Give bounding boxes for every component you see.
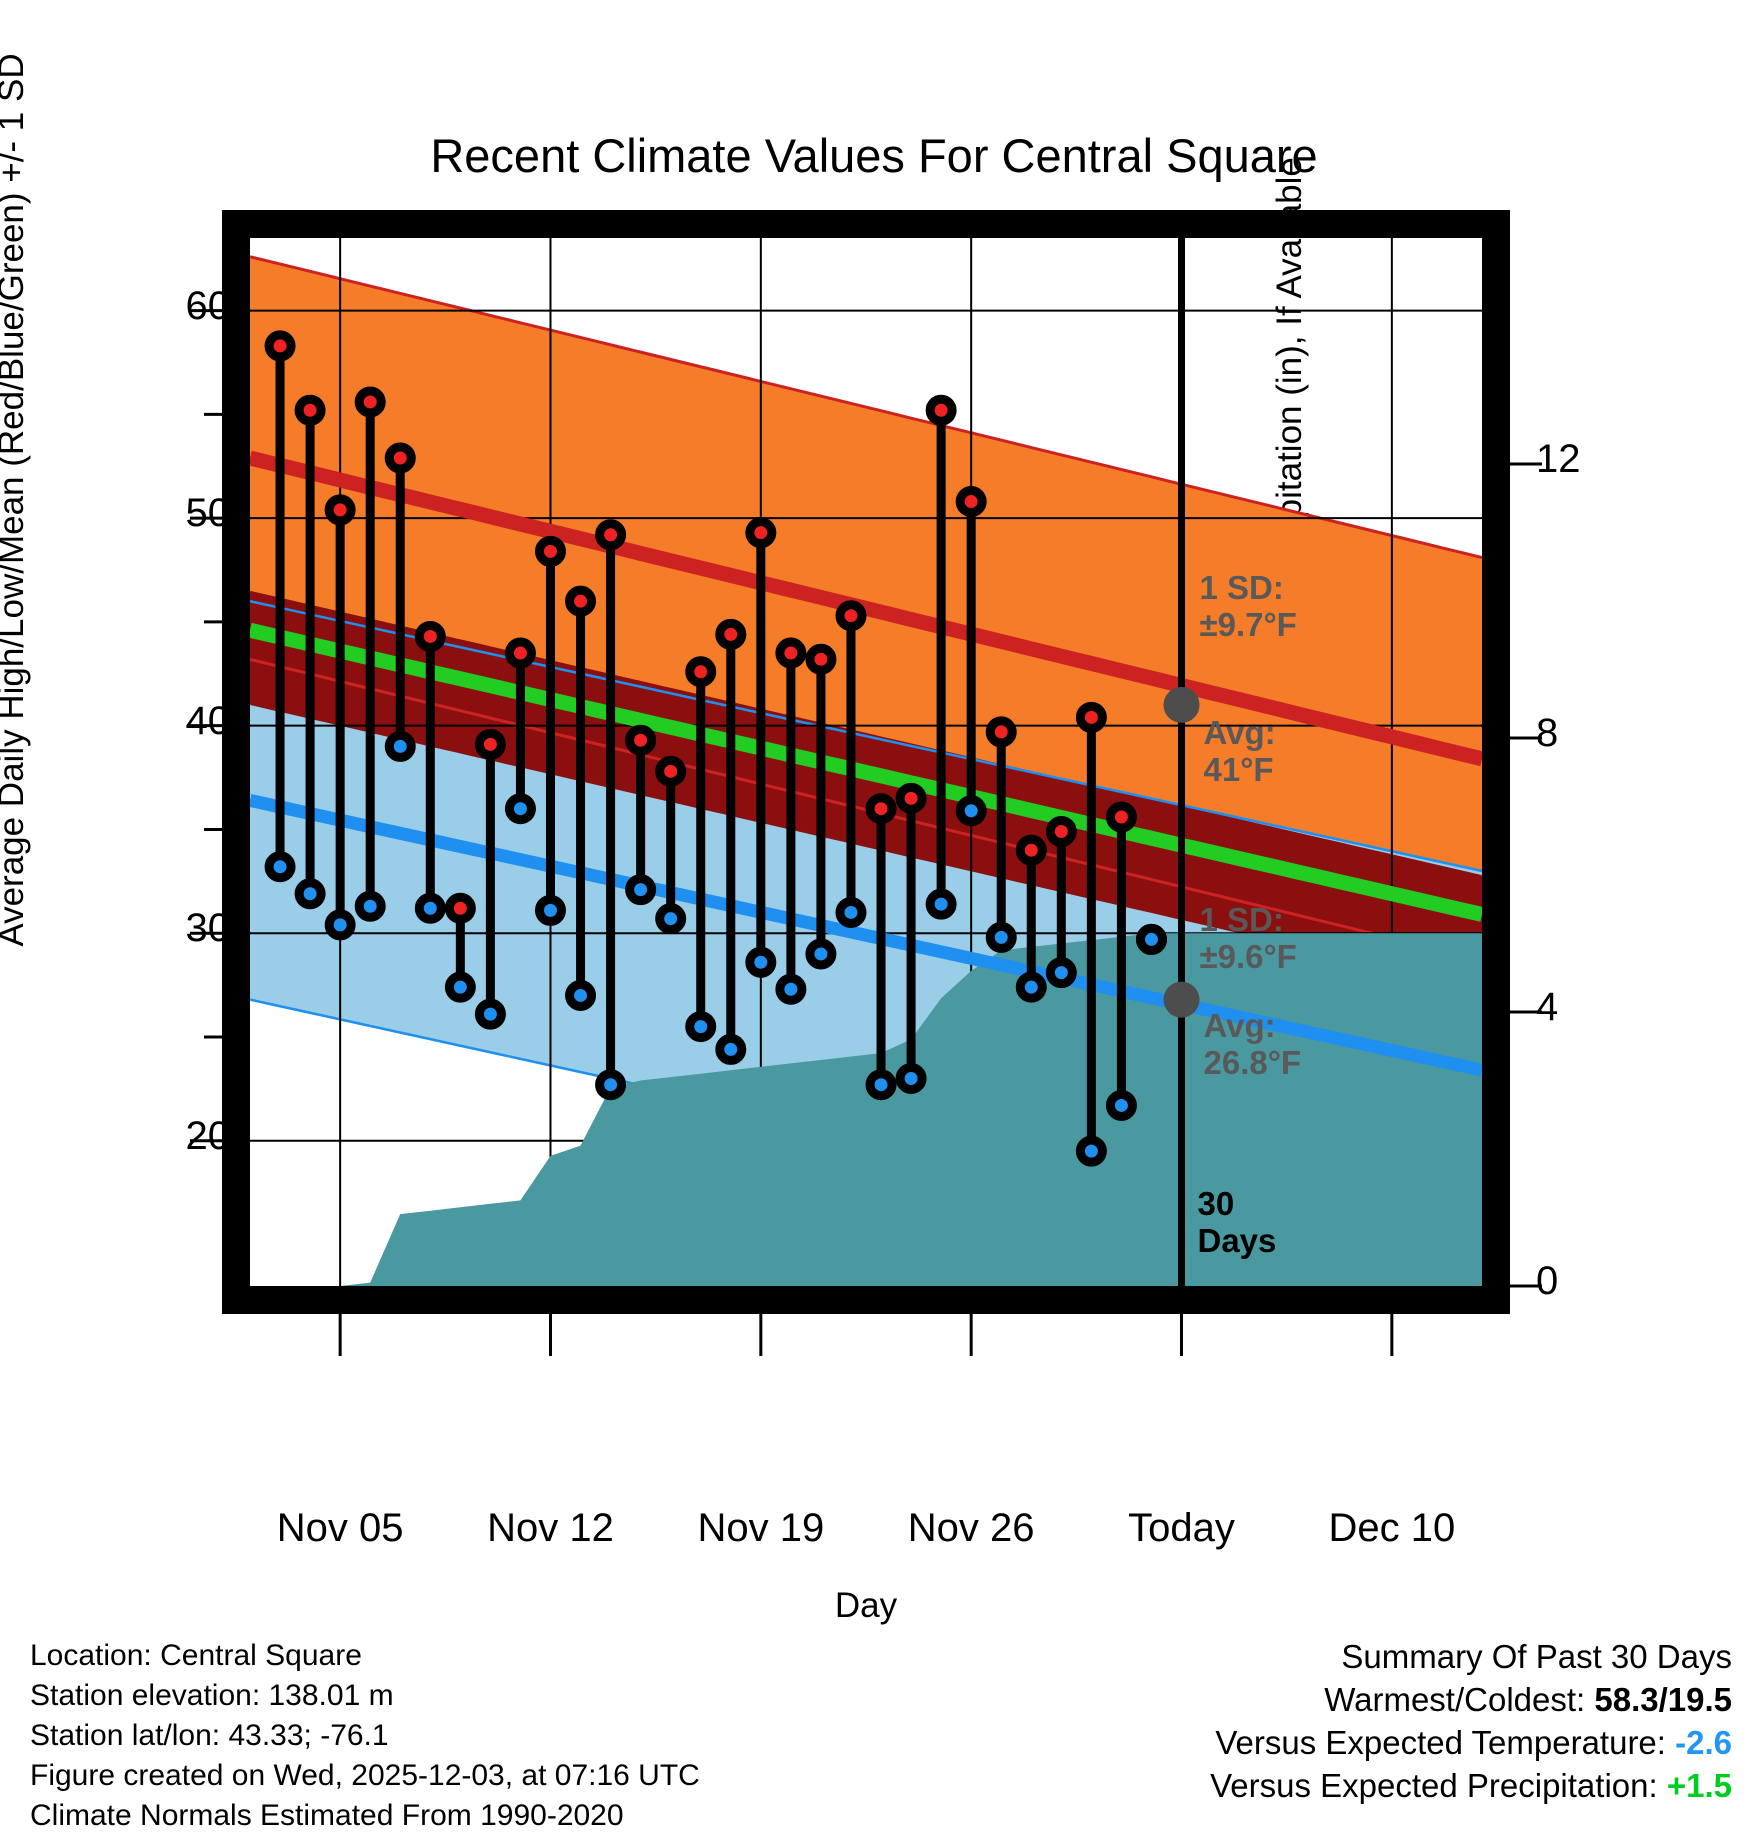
daily-low-marker: [329, 914, 351, 936]
daily-high-marker: [389, 447, 411, 469]
daily-low-marker: [449, 976, 471, 998]
metadata-normals: Climate Normals Estimated From 1990-2020: [30, 1796, 700, 1835]
daily-high-marker: [750, 522, 772, 544]
daily-high-marker: [1110, 806, 1132, 828]
daily-high-marker: [600, 524, 622, 546]
y-tick-left-40: 40: [186, 699, 231, 744]
climate-chart-page: Recent Climate Values For Central Square…: [0, 0, 1748, 1828]
daily-low-marker: [840, 901, 862, 923]
y-tick-right-12: 12: [1536, 437, 1581, 482]
daily-low-marker: [990, 926, 1012, 948]
summary-warmest-coldest-label: Warmest/Coldest:: [1324, 1681, 1585, 1718]
page-title: Recent Climate Values For Central Square: [0, 128, 1748, 183]
daily-high-marker: [780, 642, 802, 664]
daily-high-marker: [269, 335, 291, 357]
daily-high-marker: [630, 729, 652, 751]
daily-high-marker: [690, 661, 712, 683]
daily-low-marker: [600, 1074, 622, 1096]
climate-plot-svg: [250, 238, 1482, 1286]
metadata-created: Figure created on Wed, 2025-12-03, at 07…: [30, 1756, 700, 1796]
summary-vs-precipitation-label: Versus Expected Precipitation:: [1210, 1767, 1658, 1804]
summary-vs-temperature-value: -2.6: [1675, 1724, 1732, 1761]
annotation-high-avg: Avg: 41°F: [1204, 715, 1276, 789]
daily-high-marker: [299, 399, 321, 421]
daily-low-marker: [299, 883, 321, 905]
daily-high-marker: [840, 605, 862, 627]
today-high-normal-dot: [1164, 687, 1200, 723]
daily-low-marker: [900, 1067, 922, 1089]
daily-low-marker: [810, 943, 832, 965]
annotation-low-sd: 1 SD: ±9.6°F: [1200, 902, 1297, 976]
daily-high-marker: [539, 540, 561, 562]
daily-low-marker: [509, 798, 531, 820]
daily-high-marker: [870, 798, 892, 820]
daily-low-marker: [479, 1003, 501, 1025]
daily-high-marker: [990, 721, 1012, 743]
summary-vs-precipitation-value: +1.5: [1667, 1767, 1732, 1804]
metadata-location: Location: Central Square: [30, 1636, 700, 1676]
daily-high-marker: [479, 733, 501, 755]
daily-low-marker: [720, 1038, 742, 1060]
summary-panel: Summary Of Past 30 Days Warmest/Coldest:…: [1210, 1636, 1732, 1808]
daily-low-marker: [269, 856, 291, 878]
today-low-normal-dot: [1164, 982, 1200, 1018]
y-tick-right-8: 8: [1536, 711, 1558, 756]
daily-high-marker: [329, 499, 351, 521]
daily-high-marker: [449, 897, 471, 919]
daily-high-marker: [1020, 839, 1042, 861]
daily-high-marker: [720, 623, 742, 645]
summary-heading: Summary Of Past 30 Days: [1210, 1636, 1732, 1679]
summary-warmest-coldest-value: 58.3/19.5: [1594, 1681, 1732, 1718]
summary-warmest-coldest: Warmest/Coldest: 58.3/19.5: [1210, 1679, 1732, 1722]
y-tick-right-4: 4: [1536, 985, 1558, 1030]
y-tick-left-30: 30: [186, 906, 231, 951]
daily-low-marker: [960, 800, 982, 822]
daily-low-marker: [389, 735, 411, 757]
plot-area: 1 SD: ±9.7°F Avg: 41°F 1 SD: ±9.6°F Avg:…: [250, 238, 1482, 1286]
daily-low-marker: [1110, 1094, 1132, 1116]
annotation-low-avg: Avg: 26.8°F: [1204, 1008, 1302, 1082]
daily-low-marker: [539, 899, 561, 921]
daily-low-marker: [690, 1016, 712, 1038]
metadata-latlon: Station lat/lon: 43.33; -76.1: [30, 1716, 700, 1756]
metadata-elevation: Station elevation: 138.01 m: [30, 1676, 700, 1716]
station-metadata: Location: Central Square Station elevati…: [30, 1636, 700, 1835]
x-axis-title: Day: [250, 1586, 1482, 1626]
daily-low-marker: [780, 978, 802, 1000]
annotation-30-days: 30 Days: [1198, 1186, 1277, 1260]
daily-high-marker: [509, 642, 531, 664]
y-axis-left-title: Average Daily High/Low/Mean (Red/Blue/Gr…: [0, 0, 32, 1050]
daily-low-marker: [419, 897, 441, 919]
plot-canvas: [250, 238, 1482, 1286]
daily-low-marker: [1140, 928, 1162, 950]
daily-low-marker: [570, 984, 592, 1006]
daily-low-marker: [359, 895, 381, 917]
x-tick-dec-10: Dec 10: [1328, 1506, 1455, 1551]
daily-low-marker: [750, 951, 772, 973]
daily-low-marker: [870, 1074, 892, 1096]
daily-low-marker: [1020, 976, 1042, 998]
x-tick-nov-26: Nov 26: [908, 1506, 1035, 1551]
daily-high-marker: [359, 391, 381, 413]
daily-high-marker: [419, 625, 441, 647]
daily-high-marker: [570, 590, 592, 612]
x-tick-nov-05: Nov 05: [277, 1506, 404, 1551]
summary-vs-temperature: Versus Expected Temperature: -2.6: [1210, 1722, 1732, 1765]
summary-vs-temperature-label: Versus Expected Temperature:: [1215, 1724, 1666, 1761]
y-tick-left-60: 60: [186, 284, 231, 329]
x-tick-nov-12: Nov 12: [487, 1506, 614, 1551]
x-tick-nov-19: Nov 19: [697, 1506, 824, 1551]
daily-low-marker: [630, 879, 652, 901]
daily-low-marker: [660, 908, 682, 930]
daily-low-marker: [930, 893, 952, 915]
daily-high-marker: [660, 760, 682, 782]
daily-high-marker: [1080, 706, 1102, 728]
y-tick-right-0: 0: [1536, 1259, 1558, 1304]
daily-high-marker: [810, 648, 832, 670]
daily-high-marker: [960, 491, 982, 513]
daily-high-marker: [1050, 821, 1072, 843]
y-tick-left-20: 20: [186, 1114, 231, 1159]
daily-high-marker: [930, 399, 952, 421]
daily-high-marker: [900, 787, 922, 809]
daily-low-marker: [1050, 962, 1072, 984]
x-tick-today: Today: [1128, 1506, 1235, 1551]
annotation-high-sd: 1 SD: ±9.7°F: [1200, 570, 1297, 644]
y-tick-left-50: 50: [186, 491, 231, 536]
summary-vs-precipitation: Versus Expected Precipitation: +1.5: [1210, 1765, 1732, 1808]
daily-low-marker: [1080, 1140, 1102, 1162]
